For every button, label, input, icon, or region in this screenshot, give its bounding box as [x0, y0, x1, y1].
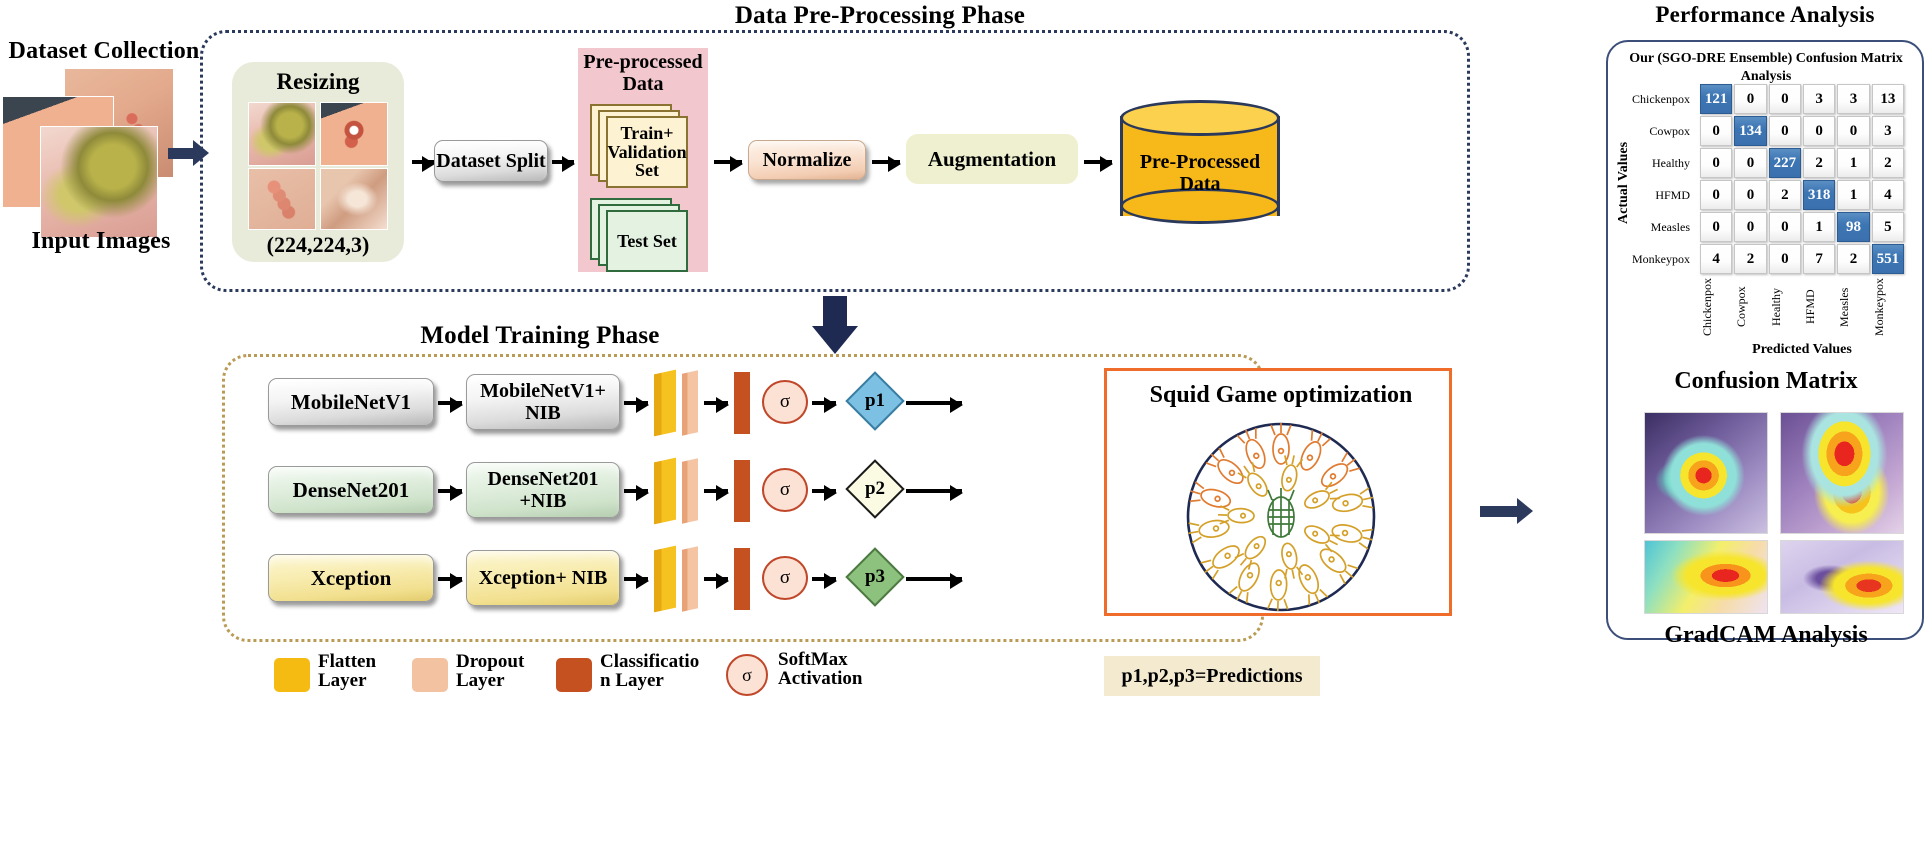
cm-cell: 0 [1734, 84, 1766, 114]
softmax-activation-3: σ [762, 556, 808, 600]
confusion-matrix-xlabel: Predicted Values [1700, 342, 1904, 358]
cm-cell: 98 [1837, 212, 1869, 242]
gradcam-caption: GradCAM Analysis [1620, 622, 1912, 649]
page-title-training: Model Training Phase [300, 322, 780, 350]
legend-classification-label: Classificatio n Layer [600, 652, 710, 691]
train-validation-set: Train+ Validation Set [606, 116, 688, 188]
cm-col-label: HFMD [1803, 276, 1835, 338]
arrow-preprocessed-to-normalize [714, 160, 742, 164]
resized-image-1 [248, 102, 316, 166]
resizing-label: Resizing [232, 68, 404, 96]
nib-model-mobilenetv1[interactable]: MobileNetV1+ NIB [466, 374, 620, 430]
softmax-activation-1: σ [762, 380, 808, 424]
page-title-preprocessing: Data Pre-Processing Phase [560, 2, 1200, 30]
legend-softmax-label: SoftMax Activation [778, 650, 894, 689]
dataset-collection-label: Dataset Collection [4, 38, 204, 65]
legend-predictions-note: p1,p2,p3=Predictions [1104, 656, 1320, 696]
arrow-dropout-to-classification-3 [704, 577, 728, 581]
cm-cell: 0 [1769, 116, 1801, 146]
cm-cell: 2 [1769, 180, 1801, 210]
gradcam-image-4 [1780, 540, 1904, 614]
confusion-matrix-title: Our (SGO-DRE Ensemble) Confusion Matrix … [1622, 50, 1910, 85]
arrow-p2-to-sgo [906, 489, 962, 493]
cm-cell: 121 [1700, 84, 1732, 114]
gradcam-image-2 [1780, 412, 1904, 534]
arrow-mobilenet-to-nib [438, 401, 462, 405]
cm-row-label: Monkeypox [1630, 244, 1696, 274]
cm-cell: 1 [1803, 212, 1835, 242]
gradcam-image-3 [1644, 540, 1768, 614]
cm-cell: 0 [1700, 148, 1732, 178]
dropout-layer-1 [682, 370, 698, 435]
cylinder-top [1120, 100, 1280, 136]
confusion-matrix-row-labels: Chickenpox Cowpox Healthy HFMD Measles M… [1630, 84, 1696, 276]
arrow-p3-to-sgo [906, 577, 962, 581]
cm-cell: 3 [1872, 116, 1904, 146]
resized-image-3 [248, 168, 316, 230]
dropout-swatch-icon [412, 658, 448, 692]
cm-cell: 134 [1734, 116, 1766, 146]
prediction-p2-label: p2 [865, 478, 885, 500]
arrow-mobilenet-nib-to-flatten [624, 401, 648, 405]
cm-cell: 0 [1837, 116, 1869, 146]
arrow-densenet-to-nib [438, 489, 462, 493]
classification-layer-2 [734, 460, 750, 522]
preprocessed-data-panel: Pre-processed Data Train+ Validation Set… [578, 48, 708, 272]
cm-cell: 1 [1837, 180, 1869, 210]
legend-flatten-label: Flatten Layer [318, 652, 404, 691]
cm-col-label: Healthy [1769, 276, 1801, 338]
cm-row-label: Chickenpox [1630, 84, 1696, 114]
cm-cell: 2 [1734, 244, 1766, 274]
legend-dropout: Dropout Layer [412, 652, 542, 710]
input-images-label: Input Images [6, 228, 196, 255]
squid-game-optimization-title: Squid Game optimization [1107, 379, 1455, 413]
legend-dropout-label: Dropout Layer [456, 652, 546, 691]
cm-cell: 0 [1734, 212, 1766, 242]
preprocessed-data-title: Pre-processed Data [582, 52, 704, 96]
arrow-softmax-to-p3 [812, 577, 836, 581]
confusion-matrix-grid: 121 0 0 3 3 13 0 134 0 0 0 3 0 0 227 2 1… [1700, 84, 1904, 274]
nib-model-densenet201[interactable]: DenseNet201 +NIB [466, 462, 620, 518]
arrow-xception-to-nib [438, 577, 462, 581]
resized-image-4 [320, 168, 388, 230]
cm-row-label: Cowpox [1630, 116, 1696, 146]
arrow-densenet-nib-to-flatten [624, 489, 648, 493]
cm-col-label: Measles [1837, 276, 1869, 338]
arrow-augmentation-to-database [1084, 160, 1112, 164]
dataset-split-node[interactable]: Dataset Split [434, 140, 548, 182]
cm-cell: 13 [1872, 84, 1904, 114]
cm-row-label: Healthy [1630, 148, 1696, 178]
cm-cell: 2 [1837, 244, 1869, 274]
cm-cell: 227 [1769, 148, 1801, 178]
cm-cell: 4 [1700, 244, 1732, 274]
cm-cell: 0 [1734, 180, 1766, 210]
dropout-layer-3 [682, 546, 698, 611]
softmax-oval-icon: σ [726, 654, 768, 696]
cm-col-label: Cowpox [1734, 276, 1766, 338]
arrow-dataset-to-resizing [168, 148, 194, 159]
cm-row-label: Measles [1630, 212, 1696, 242]
resized-image-2 [320, 102, 388, 166]
base-model-densenet201[interactable]: DenseNet201 [268, 466, 434, 514]
arrow-resizing-to-split [412, 160, 434, 164]
classification-layer-1 [734, 372, 750, 434]
squid-game-optimization-box: Squid Game optimization [1104, 368, 1452, 616]
arrow-dropout-to-classification-2 [704, 489, 728, 493]
database-label: Pre-Processed Data [1128, 138, 1272, 208]
prediction-p3-label: p3 [865, 566, 885, 588]
test-set: Test Set [606, 210, 688, 272]
flatten-layer-3 [654, 546, 676, 613]
augmentation-node[interactable]: Augmentation [906, 134, 1078, 184]
input-image-1 [40, 126, 158, 238]
prediction-p1-label: p1 [865, 390, 885, 412]
legend-flatten: Flatten Layer [274, 652, 398, 710]
cm-cell: 0 [1803, 116, 1835, 146]
cm-cell: 5 [1872, 212, 1904, 242]
cm-col-label: Chickenpox [1700, 276, 1732, 338]
preprocessed-database: Pre-Processed Data [1120, 100, 1280, 230]
flatten-layer-1 [654, 370, 676, 437]
flatten-layer-2 [654, 458, 676, 525]
arrow-p1-to-sgo [906, 401, 962, 405]
base-model-mobilenetv1[interactable]: MobileNetV1 [268, 378, 434, 426]
dropout-layer-2 [682, 458, 698, 523]
normalize-node[interactable]: Normalize [748, 140, 866, 180]
confusion-matrix-col-labels: Chickenpox Cowpox Healthy HFMD Measles M… [1700, 276, 1904, 338]
cm-cell: 0 [1769, 84, 1801, 114]
cm-cell: 0 [1734, 148, 1766, 178]
arrow-softmax-to-p2 [812, 489, 836, 493]
cm-cell: 551 [1872, 244, 1904, 274]
cm-col-label: Monkeypox [1872, 276, 1904, 338]
resize-shape-label: (224,224,3) [232, 230, 404, 260]
cm-cell: 7 [1803, 244, 1835, 274]
cm-cell: 1 [1837, 148, 1869, 178]
classification-layer-3 [734, 548, 750, 610]
cm-cell: 2 [1872, 148, 1904, 178]
cm-cell: 0 [1769, 244, 1801, 274]
confusion-matrix-caption: Confusion Matrix [1620, 368, 1912, 395]
cm-cell: 4 [1872, 180, 1904, 210]
page-title-performance: Performance Analysis [1600, 2, 1930, 28]
arrow-xception-nib-to-flatten [624, 577, 648, 581]
cm-cell: 0 [1700, 116, 1732, 146]
flatten-swatch-icon [274, 658, 310, 692]
legend-classification: Classificatio n Layer [556, 652, 706, 710]
nib-model-xception[interactable]: Xception+ NIB [466, 550, 620, 606]
gradcam-image-1 [1644, 412, 1768, 534]
legend-softmax: σ SoftMax Activation [726, 648, 896, 708]
cm-cell: 3 [1837, 84, 1869, 114]
arrow-phase-transition [812, 296, 858, 354]
base-model-xception[interactable]: Xception [268, 554, 434, 602]
classification-swatch-icon [556, 658, 592, 692]
arrow-split-to-preprocessed [552, 160, 574, 164]
softmax-activation-2: σ [762, 468, 808, 512]
cm-row-label: HFMD [1630, 180, 1696, 210]
cm-cell: 0 [1700, 212, 1732, 242]
resizing-block: Resizing (224,224,3) [232, 62, 404, 262]
arrow-softmax-to-p1 [812, 401, 836, 405]
arrow-normalize-to-augmentation [872, 160, 900, 164]
arrow-training-to-performance [1480, 506, 1518, 517]
cm-cell: 3 [1803, 84, 1835, 114]
cm-cell: 318 [1803, 180, 1835, 210]
cm-cell: 0 [1700, 180, 1732, 210]
cm-cell: 2 [1803, 148, 1835, 178]
arrow-dropout-to-classification-1 [704, 401, 728, 405]
cm-cell: 0 [1769, 212, 1801, 242]
squid-game-illustration [1107, 417, 1455, 617]
